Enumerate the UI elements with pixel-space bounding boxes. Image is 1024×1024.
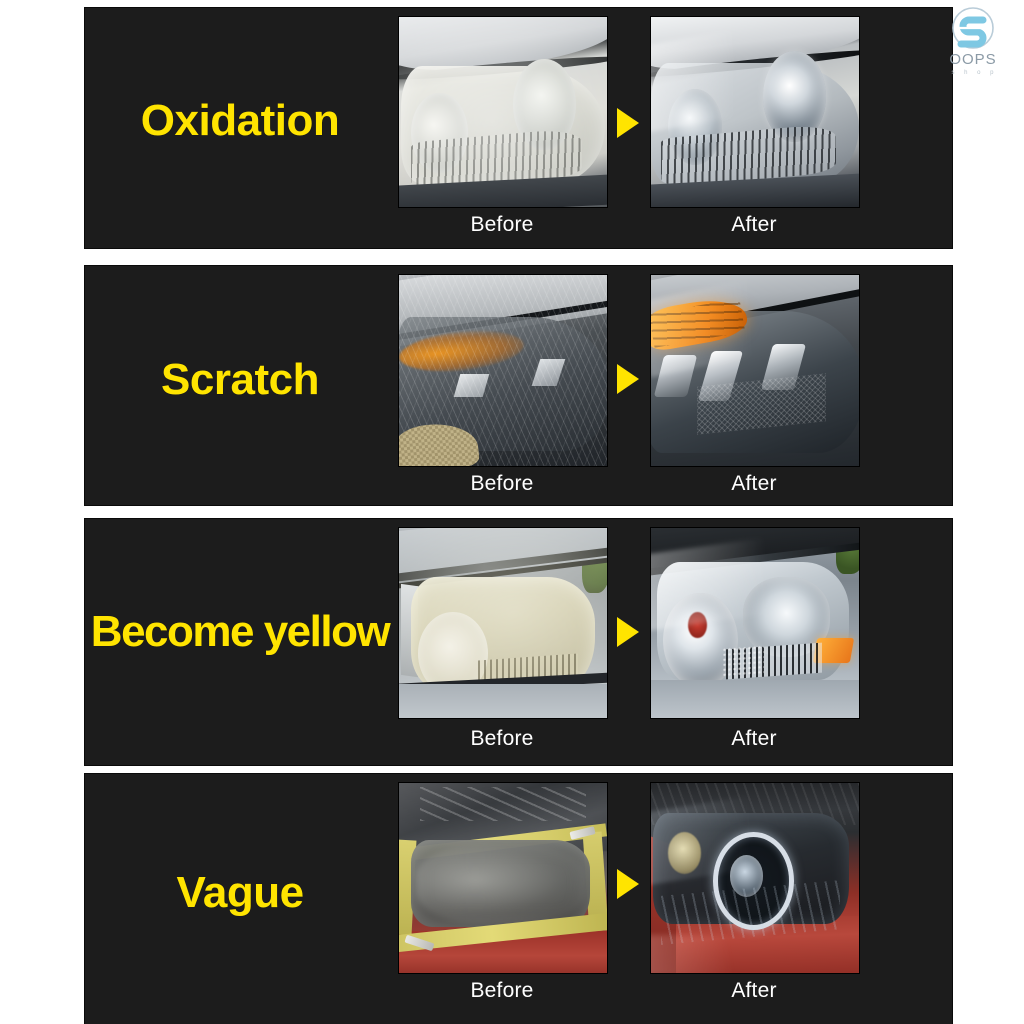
right-triangle-arrow-icon <box>617 869 639 899</box>
after-photo-vague <box>650 782 860 974</box>
oops-circular-s-logo-icon <box>949 4 997 52</box>
after-photo-oxidation <box>650 16 860 208</box>
right-triangle-arrow-icon <box>617 364 639 394</box>
panel-label: Oxidation <box>85 96 395 146</box>
before-photo-become-yellow <box>398 527 608 719</box>
after-caption: After <box>649 472 859 496</box>
panel-label: Become yellow <box>85 607 395 657</box>
before-caption: Before <box>397 727 607 751</box>
after-caption: After <box>649 213 859 237</box>
before-photo-oxidation <box>398 16 608 208</box>
before-caption: Before <box>397 979 607 1003</box>
brand-sub: s h o p <box>930 69 1016 78</box>
after-photo-become-yellow <box>650 527 860 719</box>
before-photo-vague <box>398 782 608 974</box>
before-photo-scratch <box>398 274 608 467</box>
comparison-panel-scratch: Scratch Before After <box>85 266 952 505</box>
right-triangle-arrow-icon <box>617 108 639 138</box>
panel-label: Vague <box>85 868 395 918</box>
panel-label: Scratch <box>85 355 395 405</box>
comparison-panel-vague: Vague Before After <box>85 774 952 1024</box>
after-caption: After <box>649 979 859 1003</box>
comparison-panel-oxidation: Oxidation Before After <box>85 8 952 248</box>
brand-logo: OOPS s h o p <box>930 4 1016 88</box>
after-caption: After <box>649 727 859 751</box>
right-triangle-arrow-icon <box>617 617 639 647</box>
after-photo-scratch <box>650 274 860 467</box>
before-caption: Before <box>397 472 607 496</box>
comparison-panel-become-yellow: Become yellow Before After <box>85 519 952 765</box>
brand-name: OOPS <box>930 53 1016 67</box>
before-caption: Before <box>397 213 607 237</box>
